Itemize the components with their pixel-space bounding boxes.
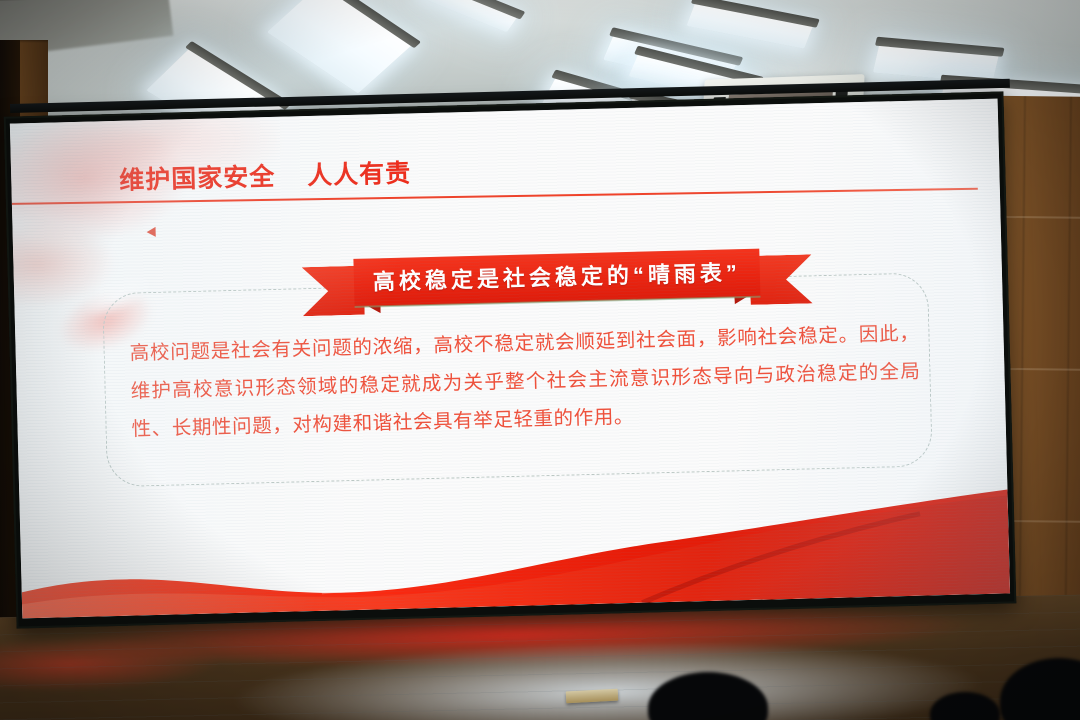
presentation-slide: 维护国家安全 人人有责 高校稳定是社会稳定的“晴雨表” bbox=[10, 99, 1010, 619]
screen-surface: 维护国家安全 人人有责 高校稳定是社会稳定的“晴雨表” bbox=[10, 99, 1010, 619]
banner-title-text: 高校稳定是社会稳定的“晴雨表” bbox=[354, 258, 761, 298]
header-text-primary: 维护国家安全 bbox=[119, 163, 276, 195]
led-screen[interactable]: 维护国家安全 人人有责 高校稳定是社会稳定的“晴雨表” bbox=[4, 91, 1017, 628]
conference-room-photo: 维护国家安全 人人有责 高校稳定是社会稳定的“晴雨表” bbox=[0, 0, 1080, 720]
wave-svg bbox=[19, 475, 1010, 618]
triangle-marker-icon bbox=[147, 227, 156, 237]
red-silk-wave-decoration bbox=[19, 475, 1010, 618]
slide-body-paragraph: 高校问题是社会有关问题的浓缩，高校不稳定就会顺延到社会面，影响社会稳定。因此，维… bbox=[129, 315, 922, 449]
header-text-secondary: 人人有责 bbox=[307, 159, 412, 190]
slide-header-title: 维护国家安全 人人有责 bbox=[119, 153, 412, 196]
